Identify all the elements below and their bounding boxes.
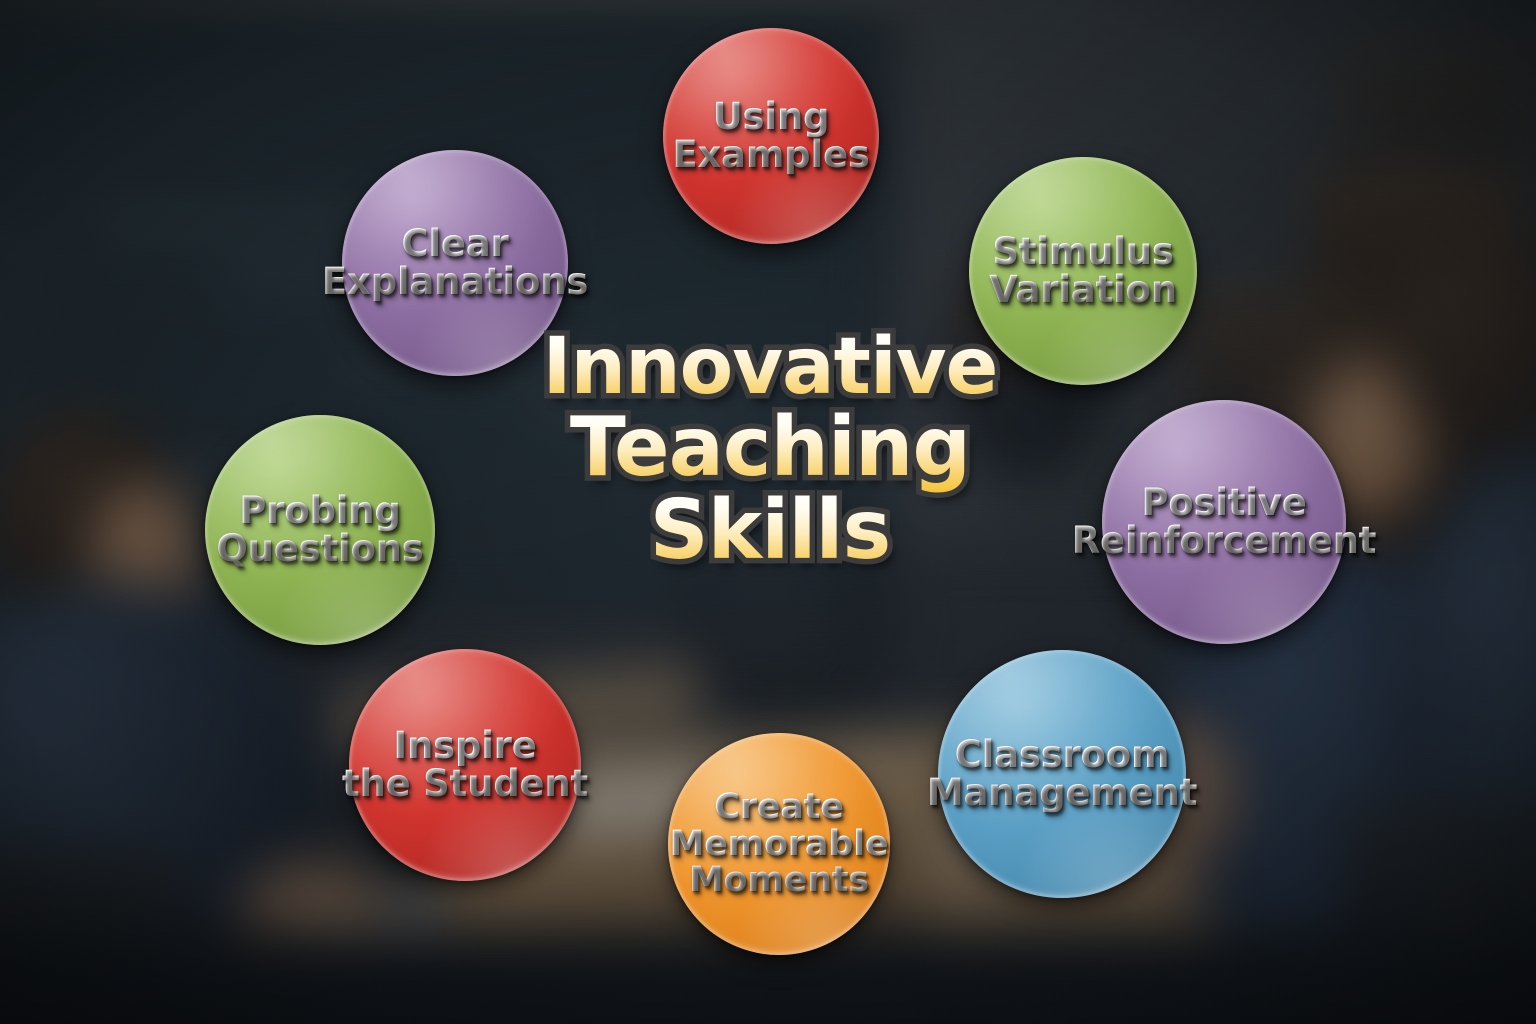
page-title: InnovativeInnovativeTeachingTeachingSkil… <box>510 330 1030 570</box>
bubble-label: ProbingQuestions <box>216 492 423 569</box>
bubble-label-line: Reinforcement <box>1072 522 1376 560</box>
bubble-label: ClassroomManagement <box>927 736 1197 813</box>
bubble-label: StimulusVariation <box>989 233 1177 310</box>
background-chalk-mark <box>0 380 24 420</box>
background-chalk-mark <box>0 220 24 260</box>
bubble-label-line: Memorable <box>670 826 889 862</box>
bubble-label-line: Examples <box>672 136 869 174</box>
skill-bubble-inspire-the-student[interactable]: Inspirethe Student <box>349 649 581 881</box>
bubble-label-line: Management <box>927 774 1197 812</box>
skill-bubble-classroom-management[interactable]: ClassroomManagement <box>938 650 1186 898</box>
background-shelf <box>1340 50 1520 160</box>
bubble-label-line: Probing <box>216 492 423 530</box>
bubble-label-line: Clear <box>322 225 588 263</box>
bubble-label: UsingExamples <box>672 98 869 175</box>
bubble-label-line: Classroom <box>927 736 1197 774</box>
bubble-label-line: Using <box>672 98 869 136</box>
bubble-label-line: Variation <box>989 271 1177 309</box>
skill-bubble-positive-reinforcement[interactable]: PositiveReinforcement <box>1102 400 1346 644</box>
bubble-label: Inspirethe Student <box>342 727 588 804</box>
bubble-label-line: Questions <box>216 530 423 568</box>
bubble-label: PositiveReinforcement <box>1072 484 1376 561</box>
bubble-label-line: Stimulus <box>989 233 1177 271</box>
title-fill: Teaching <box>570 400 970 495</box>
bubble-label: CreateMemorableMoments <box>670 789 889 898</box>
background-chalk-mark <box>0 300 24 340</box>
bubble-label-line: Create <box>670 789 889 825</box>
title-line-3: SkillsSkills <box>510 492 1030 571</box>
bubble-label-line: Explanations <box>322 263 588 301</box>
poster-canvas: UsingExamplesClearExplanationsStimulusVa… <box>0 0 1536 1024</box>
skill-bubble-create-memorable-moments[interactable]: CreateMemorableMoments <box>668 733 890 955</box>
skill-bubble-using-examples[interactable]: UsingExamples <box>663 28 879 244</box>
bubble-label-line: Inspire <box>342 727 588 765</box>
bubble-label-line: Positive <box>1072 484 1376 522</box>
title-line-1: InnovativeInnovative <box>510 330 1030 405</box>
bubble-label-line: the Student <box>342 765 588 803</box>
title-line-2: TeachingTeaching <box>510 409 1030 488</box>
bubble-label: ClearExplanations <box>322 225 588 302</box>
title-fill: Skills <box>650 483 891 578</box>
title-fill: Innovative <box>543 322 998 412</box>
skill-bubble-probing-questions[interactable]: ProbingQuestions <box>205 415 435 645</box>
bubble-label-line: Moments <box>670 862 889 898</box>
